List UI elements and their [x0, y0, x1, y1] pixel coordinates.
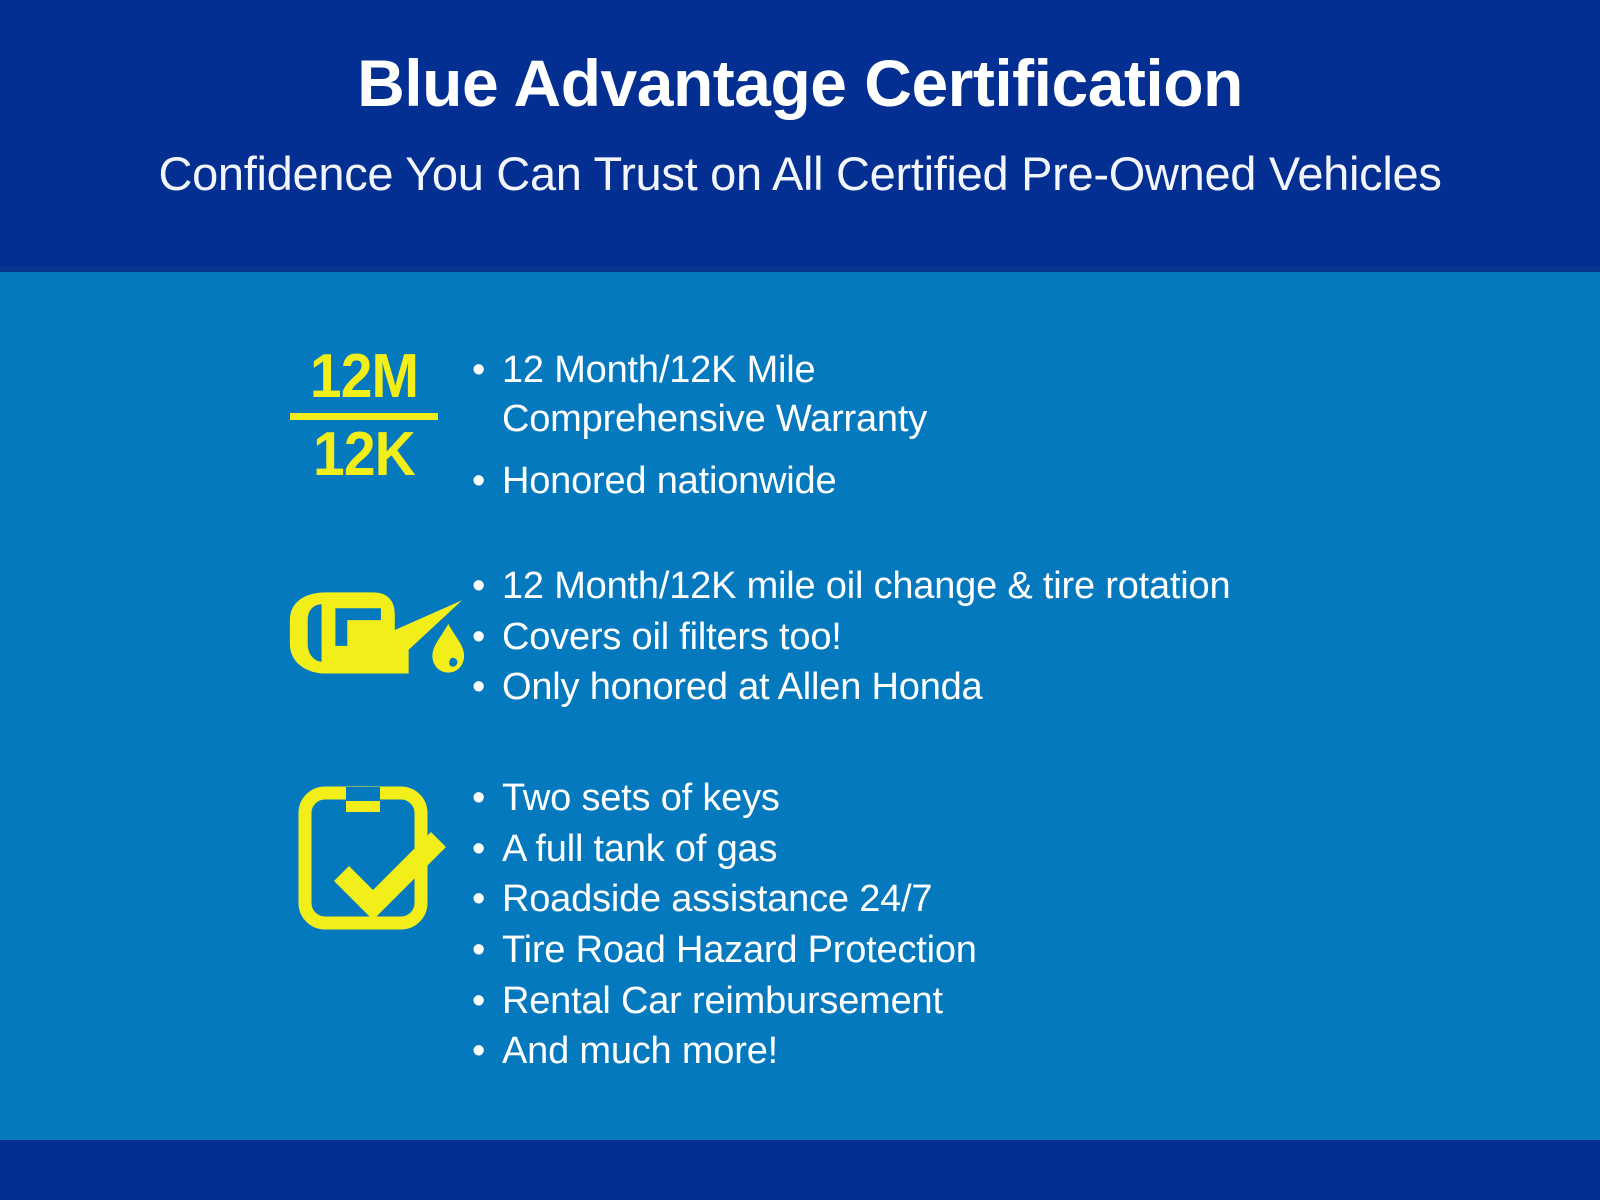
- section-extras-list: • Two sets of keys • A full tank of gas …: [472, 772, 1552, 1078]
- certification-infographic: Blue Advantage Certification Confidence …: [0, 0, 1600, 1200]
- list-item: • Honored nationwide: [472, 457, 1552, 506]
- section-warranty-list: • 12 Month/12K Mile Comprehensive Warran…: [472, 344, 1552, 520]
- footer-band: [0, 1140, 1600, 1200]
- fraction-numerator: 12M: [296, 348, 432, 407]
- content-area: 12M 12K • 12 Month/12K Mile Comprehensiv…: [0, 272, 1600, 1140]
- list-item: • 12 Month/12K mile oil change & tire ro…: [472, 562, 1552, 611]
- list-item-label: Only honored at Allen Honda: [502, 663, 983, 712]
- bullet-glyph: •: [472, 875, 502, 924]
- section-maintenance: • 12 Month/12K mile oil change & tire ro…: [272, 560, 1552, 714]
- bullet-glyph: •: [472, 825, 502, 874]
- bullet-glyph: •: [472, 613, 502, 662]
- section-extras-icon-slot: [272, 772, 472, 934]
- oil-can-icon: [278, 574, 472, 686]
- list-item-label: A full tank of gas: [502, 825, 777, 874]
- list-item: • And much more!: [472, 1027, 1552, 1076]
- bullet-glyph: •: [472, 663, 502, 712]
- page-subtitle: Confidence You Can Trust on All Certifie…: [0, 150, 1600, 197]
- list-item-label: Roadside assistance 24/7: [502, 875, 932, 924]
- bullet-glyph: •: [472, 774, 502, 823]
- list-item-label: Tire Road Hazard Protection: [502, 926, 977, 975]
- list-item: • Roadside assistance 24/7: [472, 875, 1552, 924]
- bullet-glyph: •: [472, 926, 502, 975]
- fraction-divider-bar: [290, 413, 438, 420]
- bullet-glyph: •: [472, 346, 502, 395]
- list-item-label: Rental Car reimbursement: [502, 977, 943, 1026]
- section-maintenance-list: • 12 Month/12K mile oil change & tire ro…: [472, 560, 1552, 714]
- clipboard-check-icon: [294, 782, 454, 934]
- header-band: Blue Advantage Certification Confidence …: [0, 0, 1600, 272]
- list-item: • Rental Car reimbursement: [472, 977, 1552, 1026]
- list-item: • A full tank of gas: [472, 825, 1552, 874]
- twelve-month-twelve-k-fraction-icon: 12M 12K: [290, 348, 438, 485]
- list-item-label: Honored nationwide: [502, 457, 836, 506]
- bullet-glyph: •: [472, 1027, 502, 1076]
- section-warranty-icon-slot: 12M 12K: [272, 344, 472, 485]
- list-item: • Tire Road Hazard Protection: [472, 926, 1552, 975]
- list-item-label: Two sets of keys: [502, 774, 780, 823]
- list-item-label: 12 Month/12K mile oil change & tire rota…: [502, 562, 1230, 611]
- list-item: • Two sets of keys: [472, 774, 1552, 823]
- list-item-label: And much more!: [502, 1027, 778, 1076]
- section-warranty: 12M 12K • 12 Month/12K Mile Comprehensiv…: [272, 344, 1552, 520]
- list-item-label: Covers oil filters too!: [502, 613, 842, 662]
- list-item-label: 12 Month/12K Mile Comprehensive Warranty: [502, 346, 927, 443]
- list-item: • 12 Month/12K Mile Comprehensive Warran…: [472, 346, 1552, 443]
- page-title: Blue Advantage Certification: [0, 50, 1600, 116]
- fraction-denominator: 12K: [296, 426, 432, 485]
- list-item: • Only honored at Allen Honda: [472, 663, 1552, 712]
- list-item: • Covers oil filters too!: [472, 613, 1552, 662]
- section-extras: • Two sets of keys • A full tank of gas …: [272, 772, 1552, 1078]
- bullet-glyph: •: [472, 457, 502, 506]
- bullet-glyph: •: [472, 562, 502, 611]
- section-maintenance-icon-slot: [272, 560, 472, 686]
- bullet-glyph: •: [472, 977, 502, 1026]
